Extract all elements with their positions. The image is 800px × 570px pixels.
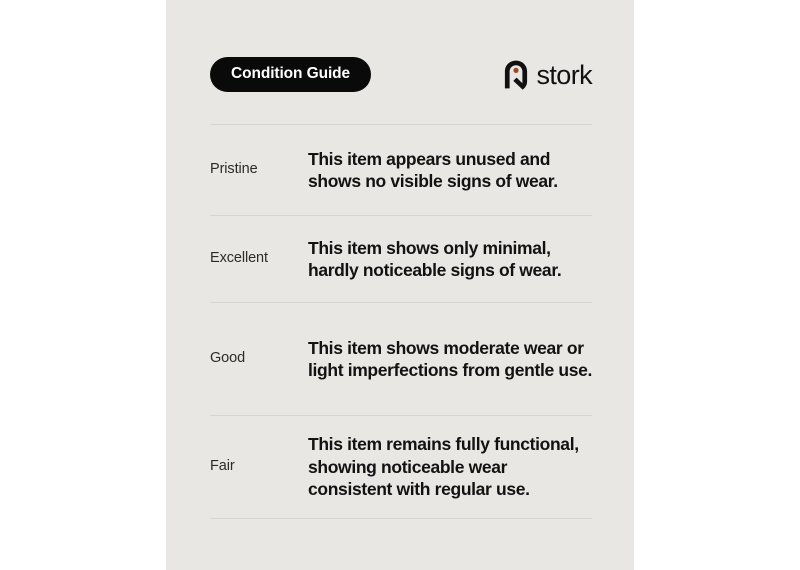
condition-guide-badge: Condition Guide xyxy=(210,57,371,92)
page-root: Condition Guide stork Pristine This item… xyxy=(0,0,800,570)
condition-label: Fair xyxy=(210,458,308,475)
stork-arch-mark-icon xyxy=(503,59,529,90)
condition-guide-card: Condition Guide stork Pristine This item… xyxy=(166,0,634,570)
condition-description: This item shows only minimal, hardly not… xyxy=(308,237,592,282)
stork-wordmark: stork xyxy=(536,62,592,89)
card-header: Condition Guide stork xyxy=(210,56,592,92)
table-row: Pristine This item appears unused and sh… xyxy=(210,125,592,215)
condition-label: Pristine xyxy=(210,161,308,178)
stork-brand-logo: stork xyxy=(503,56,592,92)
condition-label: Excellent xyxy=(210,250,308,267)
table-row: Good This item shows moderate wear or li… xyxy=(210,303,592,415)
table-divider-bottom xyxy=(210,518,592,519)
table-row: Excellent This item shows only minimal, … xyxy=(210,216,592,302)
condition-description: This item shows moderate wear or light i… xyxy=(308,337,592,382)
condition-description: This item remains fully functional, show… xyxy=(308,433,592,501)
table-row: Fair This item remains fully functional,… xyxy=(210,416,592,518)
condition-description: This item appears unused and shows no vi… xyxy=(308,148,592,193)
condition-label: Good xyxy=(210,350,308,367)
condition-table: Pristine This item appears unused and sh… xyxy=(210,124,592,519)
